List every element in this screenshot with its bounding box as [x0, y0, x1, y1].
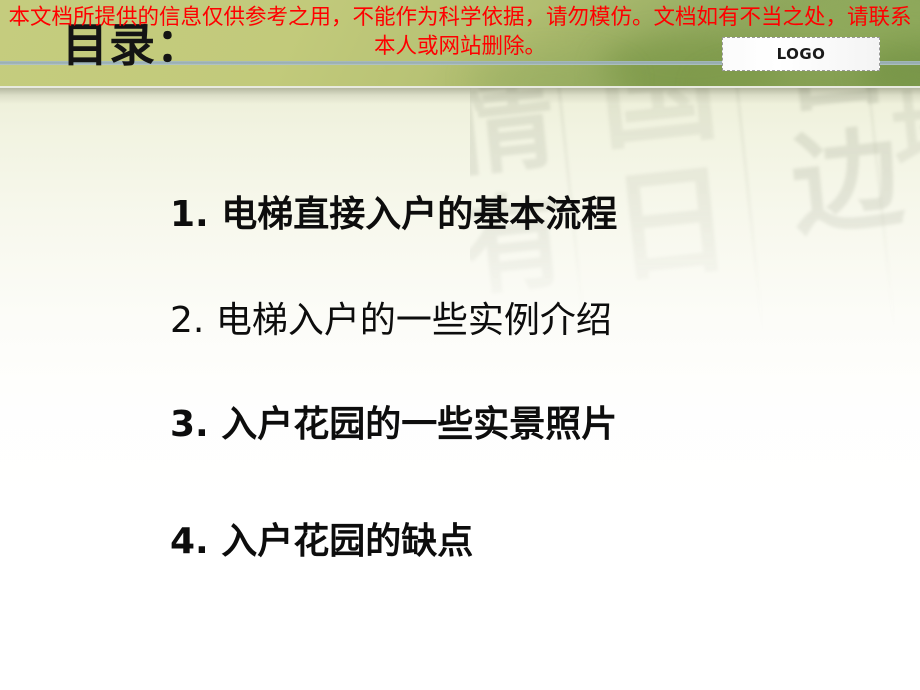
logo-placeholder[interactable]: LOGO [722, 37, 880, 71]
agenda-item-1-number: 1. [170, 194, 209, 235]
agenda-item-3[interactable]: 3. 入户花园的一些实景照片 [170, 407, 617, 443]
agenda-item-2-label: 电梯入户的一些实例介绍 [216, 300, 612, 341]
agenda-item-4[interactable]: 4. 入户花园的缺点 [170, 524, 473, 560]
agenda-item-1-label: 电梯直接入户的基本流程 [221, 194, 617, 235]
agenda-item-2-number: 2. [170, 300, 204, 341]
header-bottom-edge [0, 86, 920, 88]
agenda-item-4-label: 入户花园的缺点 [221, 521, 473, 562]
agenda-item-3-label: 入户花园的一些实景照片 [221, 404, 617, 445]
agenda-item-3-number: 3. [170, 404, 209, 445]
agenda-item-1[interactable]: 1. 电梯直接入户的基本流程 [170, 197, 617, 233]
logo-label: LOGO [777, 45, 826, 63]
agenda-list: 1. 电梯直接入户的基本流程 2. 电梯入户的一些实例介绍 3. 入户花园的一些… [0, 0, 920, 690]
agenda-item-2[interactable]: 2. 电梯入户的一些实例介绍 [170, 303, 612, 339]
agenda-item-4-number: 4. [170, 521, 209, 562]
presentation-slide: 情有 国日 营边 浔地 1. 电梯直接入户的基本流程 2. 电梯入户的一些实例介… [0, 0, 920, 690]
